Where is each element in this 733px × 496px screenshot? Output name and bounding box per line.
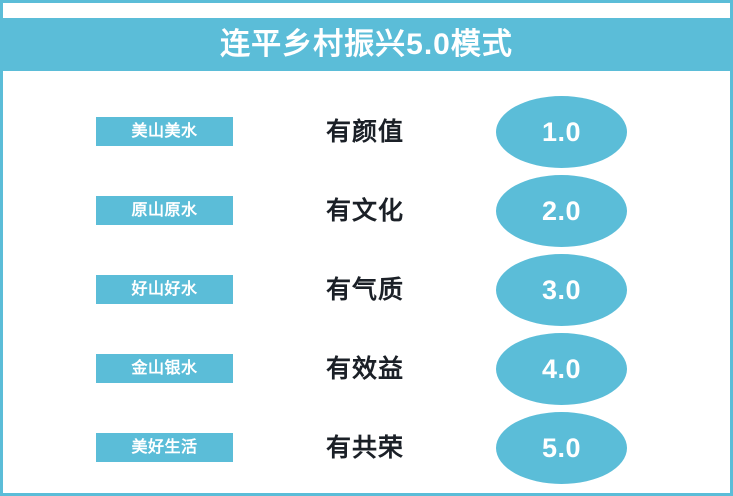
row-tag-box: 美好生活 xyxy=(96,433,233,462)
row-phrase: 有共荣 xyxy=(326,431,476,465)
row-phrase-label: 有效益 xyxy=(326,357,404,382)
row-level-label: 5.0 xyxy=(542,435,581,462)
row-level-label: 1.0 xyxy=(542,119,581,146)
row-phrase-label: 有共荣 xyxy=(326,436,404,461)
row-phrase-label: 有气质 xyxy=(326,278,404,303)
row-phrase: 有气质 xyxy=(326,273,476,307)
row-phrase-label: 有颜值 xyxy=(326,120,404,145)
row-level-label: 3.0 xyxy=(542,277,581,304)
slide-canvas: 连平乡村振兴5.0模式 美山美水 有颜值 1.0 原山原水 有文化 2.0 xyxy=(0,0,733,496)
row-phrase: 有文化 xyxy=(326,194,476,228)
row-phrase: 有颜值 xyxy=(326,115,476,149)
row-level-ellipse: 5.0 xyxy=(496,412,627,484)
row-level-label: 4.0 xyxy=(542,356,581,383)
row-tag-label: 美山美水 xyxy=(131,124,197,140)
model-row: 金山银水 有效益 4.0 xyxy=(3,334,730,413)
row-tag-label: 金山银水 xyxy=(131,361,197,377)
row-level-ellipse: 4.0 xyxy=(496,333,627,405)
model-row: 原山原水 有文化 2.0 xyxy=(3,176,730,255)
row-level-ellipse: 3.0 xyxy=(496,254,627,326)
model-row: 美山美水 有颜值 1.0 xyxy=(3,97,730,176)
row-tag-box: 美山美水 xyxy=(96,117,233,146)
rows-container: 美山美水 有颜值 1.0 原山原水 有文化 2.0 好山好水 xyxy=(3,3,730,493)
row-tag-box: 好山好水 xyxy=(96,275,233,304)
row-level-ellipse: 2.0 xyxy=(496,175,627,247)
row-phrase-label: 有文化 xyxy=(326,199,404,224)
row-tag-box: 金山银水 xyxy=(96,354,233,383)
row-tag-label: 原山原水 xyxy=(131,203,197,219)
row-phrase: 有效益 xyxy=(326,352,476,386)
row-tag-label: 好山好水 xyxy=(131,282,197,298)
model-row: 美好生活 有共荣 5.0 xyxy=(3,413,730,492)
row-tag-label: 美好生活 xyxy=(131,440,197,456)
row-level-ellipse: 1.0 xyxy=(496,96,627,168)
model-row: 好山好水 有气质 3.0 xyxy=(3,255,730,334)
row-level-label: 2.0 xyxy=(542,198,581,225)
row-tag-box: 原山原水 xyxy=(96,196,233,225)
